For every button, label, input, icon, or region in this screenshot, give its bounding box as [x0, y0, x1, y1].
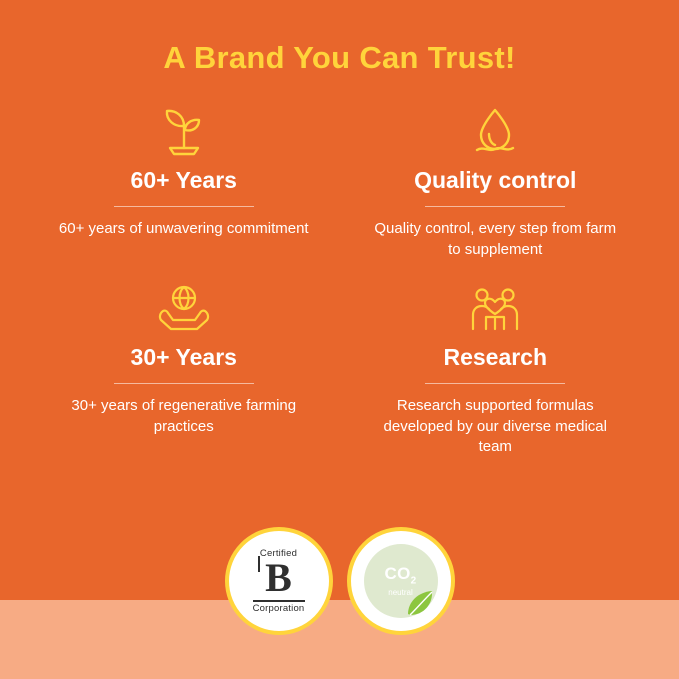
feature-description: 60+ years of unwavering commitment — [59, 219, 309, 240]
divider — [114, 206, 254, 207]
feature-card-research: Research Research supported formulas dev… — [340, 275, 652, 458]
b-corp-badge-icon: Certified B Corporation — [225, 527, 333, 635]
people-heart-icon — [358, 275, 634, 339]
co2-main-label: CO — [385, 564, 411, 583]
feature-title: 60+ Years — [46, 168, 322, 193]
divider — [425, 383, 565, 384]
feature-title: Quality control — [358, 168, 634, 193]
bcorp-letter: B — [265, 559, 292, 597]
sprout-icon — [46, 98, 322, 162]
co2-neutral-badge-icon: CO2 neutral — [347, 527, 455, 635]
divider — [425, 206, 565, 207]
feature-description: Quality control, every step from farm to… — [370, 219, 620, 260]
page-title: A Brand You Can Trust! — [0, 0, 679, 76]
leaf-icon — [402, 584, 442, 620]
divider — [114, 383, 254, 384]
feature-card-years-60: 60+ Years 60+ years of unwavering commit… — [28, 98, 340, 261]
brand-trust-poster: A Brand You Can Trust! 60+ Years 60+ yea… — [0, 0, 679, 679]
feature-card-years-30: 30+ Years 30+ years of regenerative farm… — [28, 275, 340, 458]
feature-description: 30+ years of regenerative farming practi… — [59, 396, 309, 437]
bcorp-bottom-label: Corporation — [253, 604, 305, 614]
bcorp-divider — [253, 600, 305, 602]
feature-description: Research supported formulas developed by… — [370, 396, 620, 458]
feature-grid: 60+ Years 60+ years of unwavering commit… — [0, 76, 679, 472]
certification-badges: Certified B Corporation CO2 neutral — [0, 527, 679, 635]
water-drop-icon — [358, 98, 634, 162]
hands-globe-icon — [46, 275, 322, 339]
feature-card-quality-control: Quality control Quality control, every s… — [340, 98, 652, 261]
feature-title: 30+ Years — [46, 345, 322, 370]
feature-title: Research — [358, 345, 634, 370]
